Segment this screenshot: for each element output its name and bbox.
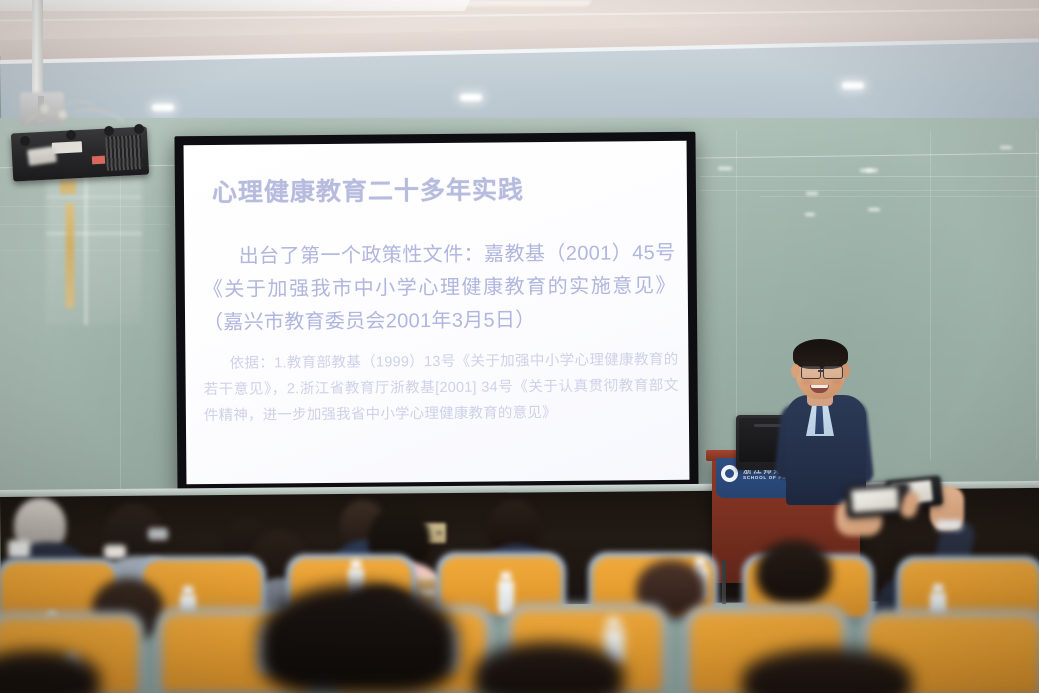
attendee-glasses-icon: [148, 528, 168, 540]
speaker-teeth: [811, 385, 828, 388]
wall-glint: [866, 169, 878, 172]
ceiling-strip-light-secondary: [328, 0, 591, 6]
projector-vent: [105, 135, 143, 171]
speaker-glasses-bridge: [818, 370, 824, 372]
window-mullion: [46, 196, 142, 198]
wall-reflection-line: [760, 196, 1039, 197]
speaker-ear-left: [791, 364, 800, 378]
projector-knob: [58, 110, 67, 119]
bottle-cap: [183, 586, 193, 595]
foreground-attendee-head: [258, 584, 458, 693]
wall-reflection-line: [700, 190, 1039, 191]
window-warm-glow: [60, 180, 76, 194]
slide-footnote-text: 依据：1.教育部教基（1999）13号《关于加强中小学心理健康教育的若干意见》，…: [203, 347, 679, 429]
podium-leg: [722, 560, 726, 604]
projection-screen-frame: 心理健康教育二十多年实践 出台了第一个政策性文件：嘉教基（2001）45号《关于…: [174, 132, 698, 494]
wall-panel-seam: [930, 130, 931, 460]
slide-note-span: 依据：1.教育部教基（1999）13号《关于加强中小学心理健康教育的若干意见》，…: [204, 352, 679, 424]
downlight: [842, 82, 864, 89]
speaker-eyebrow-left: [802, 362, 817, 365]
bottle-cap: [695, 558, 705, 567]
wall-panel-seam: [1036, 130, 1037, 460]
projection-screen-surface: 心理健康教育二十多年实践 出台了第一个政策性文件：嘉教基（2001）45号《关于…: [184, 141, 690, 484]
bottle-cap: [933, 584, 943, 593]
attendee-head: [756, 540, 832, 604]
downlight: [152, 104, 174, 111]
projector-mount-pole: [32, 0, 43, 98]
wall-glint: [1000, 146, 1012, 149]
speaker-cheek-right: [831, 378, 842, 385]
slide-body-text: 出台了第一个政策性文件：嘉教基（2001）45号《关于加强我市中小学心理健康教育…: [202, 237, 676, 340]
speaker-glasses-left-lens: [801, 366, 821, 379]
speaker-cheek-left: [801, 378, 812, 385]
wall-glint: [805, 213, 815, 216]
speaker-glasses-right-lens: [823, 366, 843, 379]
wall-glint: [868, 208, 880, 211]
downlight: [460, 94, 482, 101]
projector-foot: [66, 130, 76, 140]
wall-reflection-line: [700, 176, 1039, 177]
photographer-cuff: [936, 520, 962, 530]
window-warm-strip: [66, 203, 74, 308]
wall-glint: [806, 192, 818, 195]
speaker-hair: [793, 339, 848, 369]
projector-foot: [104, 126, 114, 136]
slide-title: 心理健康教育二十多年实践: [212, 170, 524, 209]
projector-label: [52, 141, 83, 154]
foreground-phone-screen: [851, 487, 898, 512]
speaker-eyebrow-right: [824, 362, 839, 365]
attendee-collar: [8, 540, 30, 558]
wall-glint: [718, 167, 732, 170]
bottle-cap: [351, 560, 361, 569]
window-mullion: [46, 232, 142, 235]
projector-knob: [40, 104, 49, 113]
wall-panel-seam: [736, 130, 737, 460]
slide-body-span: 出台了第一个政策性文件：嘉教基（2001）45号《关于加强我市中小学心理健康教育…: [203, 242, 676, 334]
lecture-hall-photo: 心理健康教育二十多年实践 出台了第一个政策性文件：嘉教基（2001）45号《关于…: [0, 0, 1039, 693]
bottle-cap: [501, 572, 511, 581]
projector-foot: [20, 136, 30, 146]
bottle-cap: [607, 618, 620, 629]
projector-indicator: [92, 156, 105, 165]
projector-foot: [134, 124, 144, 134]
